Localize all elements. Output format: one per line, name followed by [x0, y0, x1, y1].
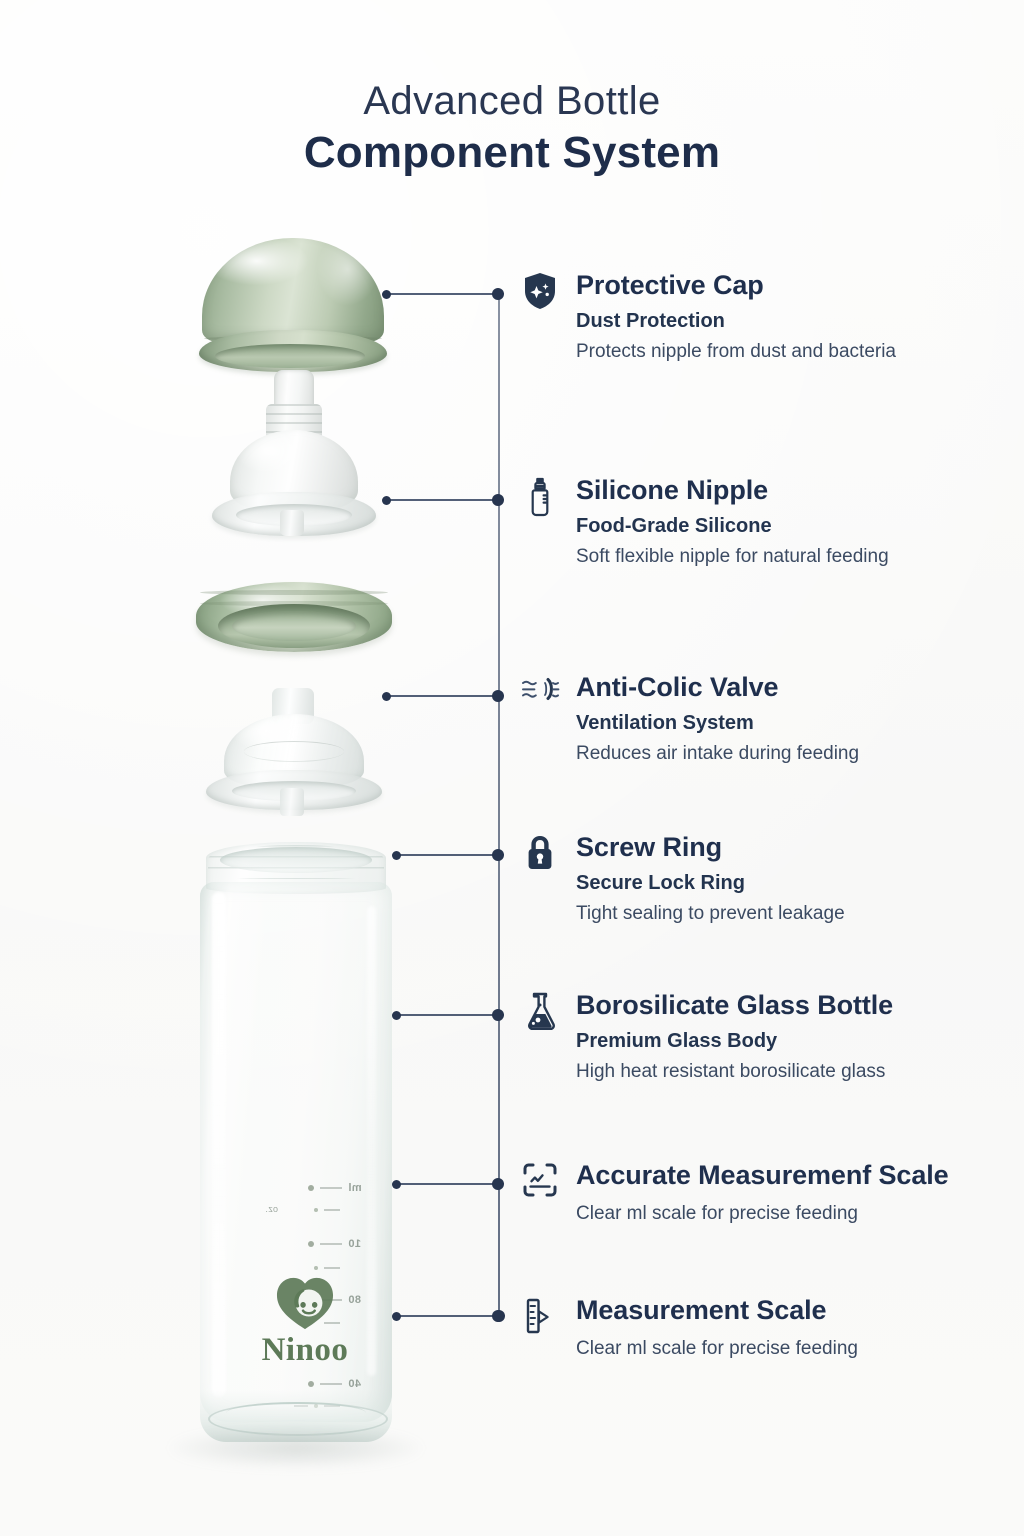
product-part-protective-cap: [202, 238, 384, 364]
product-part-silicone-nipple: [208, 370, 380, 540]
feature-title: Anti-Colic Valve: [576, 673, 859, 703]
feature-description: Tight sealing to prevent leakage: [576, 901, 845, 926]
screw-ring-mouth: [218, 604, 370, 648]
feature-subtitle: Ventilation System: [576, 711, 859, 736]
screw-ring-mouth-interior: [232, 611, 356, 641]
connector-line-6: [396, 1178, 504, 1190]
feature-description: Clear ml scale for precise feeding: [576, 1336, 858, 1361]
padlock-icon: [520, 832, 560, 874]
page-title: Advanced Bottle Component System: [0, 78, 1024, 180]
feature-item-accurate-measurement-scale[interactable]: Accurate Measuremenf Scale Clear ml scal…: [520, 1160, 949, 1226]
cap-rim: [199, 330, 387, 372]
feature-item-protective-cap[interactable]: Protective Cap Dust Protection Protects …: [520, 270, 896, 364]
valve-center-post: [280, 788, 304, 816]
connector-line-1: [386, 288, 504, 300]
feature-title: Accurate Measuremenf Scale: [576, 1161, 949, 1191]
feature-description: Reduces air intake during feeding: [576, 741, 859, 766]
baby-bottle-icon: [520, 475, 560, 517]
product-part-screw-ring: [196, 582, 392, 666]
feature-subtitle: Secure Lock Ring: [576, 871, 845, 896]
feature-item-measurement-scale[interactable]: Measurement Scale Clear ml scale for pre…: [520, 1295, 858, 1361]
product-part-glass-bottle: ml oz. 10 80: [192, 842, 400, 1442]
feature-item-screw-ring[interactable]: Screw Ring Secure Lock Ring Tight sealin…: [520, 832, 845, 926]
feature-title: Measurement Scale: [576, 1296, 858, 1326]
bottle-mouth-opening: [220, 847, 372, 873]
connector-line-7: [396, 1310, 504, 1322]
connector-line-4: [396, 849, 504, 861]
airflow-icon: [520, 672, 560, 714]
feature-title: Protective Cap: [576, 271, 896, 301]
connector-spine: [498, 293, 500, 1316]
brand-name: Ninoo: [230, 1334, 380, 1367]
product-part-anti-colic-valve: [206, 688, 382, 818]
bottle-base-inner-ring-2: [226, 1402, 366, 1424]
ruler-icon: [520, 1295, 560, 1337]
measure-chart-icon: [520, 1160, 560, 1202]
title-line-1: Advanced Bottle: [0, 78, 1024, 125]
screw-ring-band-1: [200, 590, 388, 595]
scale-label-ml: ml: [348, 1182, 366, 1194]
feature-item-borosilicate-glass-bottle[interactable]: Borosilicate Glass Bottle Premium Glass …: [520, 990, 893, 1084]
feature-subtitle: Dust Protection: [576, 309, 896, 334]
cap-dome: [202, 238, 384, 342]
connector-line-3: [386, 690, 504, 702]
product-exploded-view: ml oz. 10 80: [150, 220, 450, 1450]
scale-mark-10: 10: [348, 1238, 366, 1250]
connector-line-5: [396, 1009, 504, 1021]
scale-label-oz: oz.: [265, 1204, 278, 1214]
bottle-body: ml oz. 10 80: [200, 882, 392, 1422]
feature-item-silicone-nipple[interactable]: Silicone Nipple Food-Grade Silicone Soft…: [520, 475, 889, 569]
cap-rim-interior: [215, 344, 365, 368]
shield-sparkle-icon: [520, 270, 560, 312]
feature-subtitle: Premium Glass Body: [576, 1029, 893, 1054]
feature-description: Protects nipple from dust and bacteria: [576, 339, 896, 364]
feature-title: Borosilicate Glass Bottle: [576, 991, 893, 1021]
feature-description: Soft flexible nipple for natural feeding: [576, 544, 889, 569]
flask-icon: [520, 990, 560, 1032]
feature-title: Screw Ring: [576, 833, 845, 863]
bottle-drop-shadow: [170, 1428, 422, 1468]
title-line-2: Component System: [0, 127, 1024, 180]
scale-mark-40: 40: [348, 1378, 366, 1390]
connector-line-2: [386, 494, 504, 506]
feature-title: Silicone Nipple: [576, 476, 889, 506]
feature-item-anti-colic-valve[interactable]: Anti-Colic Valve Ventilation System Redu…: [520, 672, 859, 766]
feature-subtitle: Food-Grade Silicone: [576, 514, 889, 539]
nipple-center-post: [280, 510, 304, 536]
mother-and-baby-heart-icon: [274, 1274, 336, 1332]
feature-description: Clear ml scale for precise feeding: [576, 1201, 949, 1226]
feature-description: High heat resistant borosilicate glass: [576, 1059, 893, 1084]
brand-logo: Ninoo: [230, 1274, 380, 1367]
